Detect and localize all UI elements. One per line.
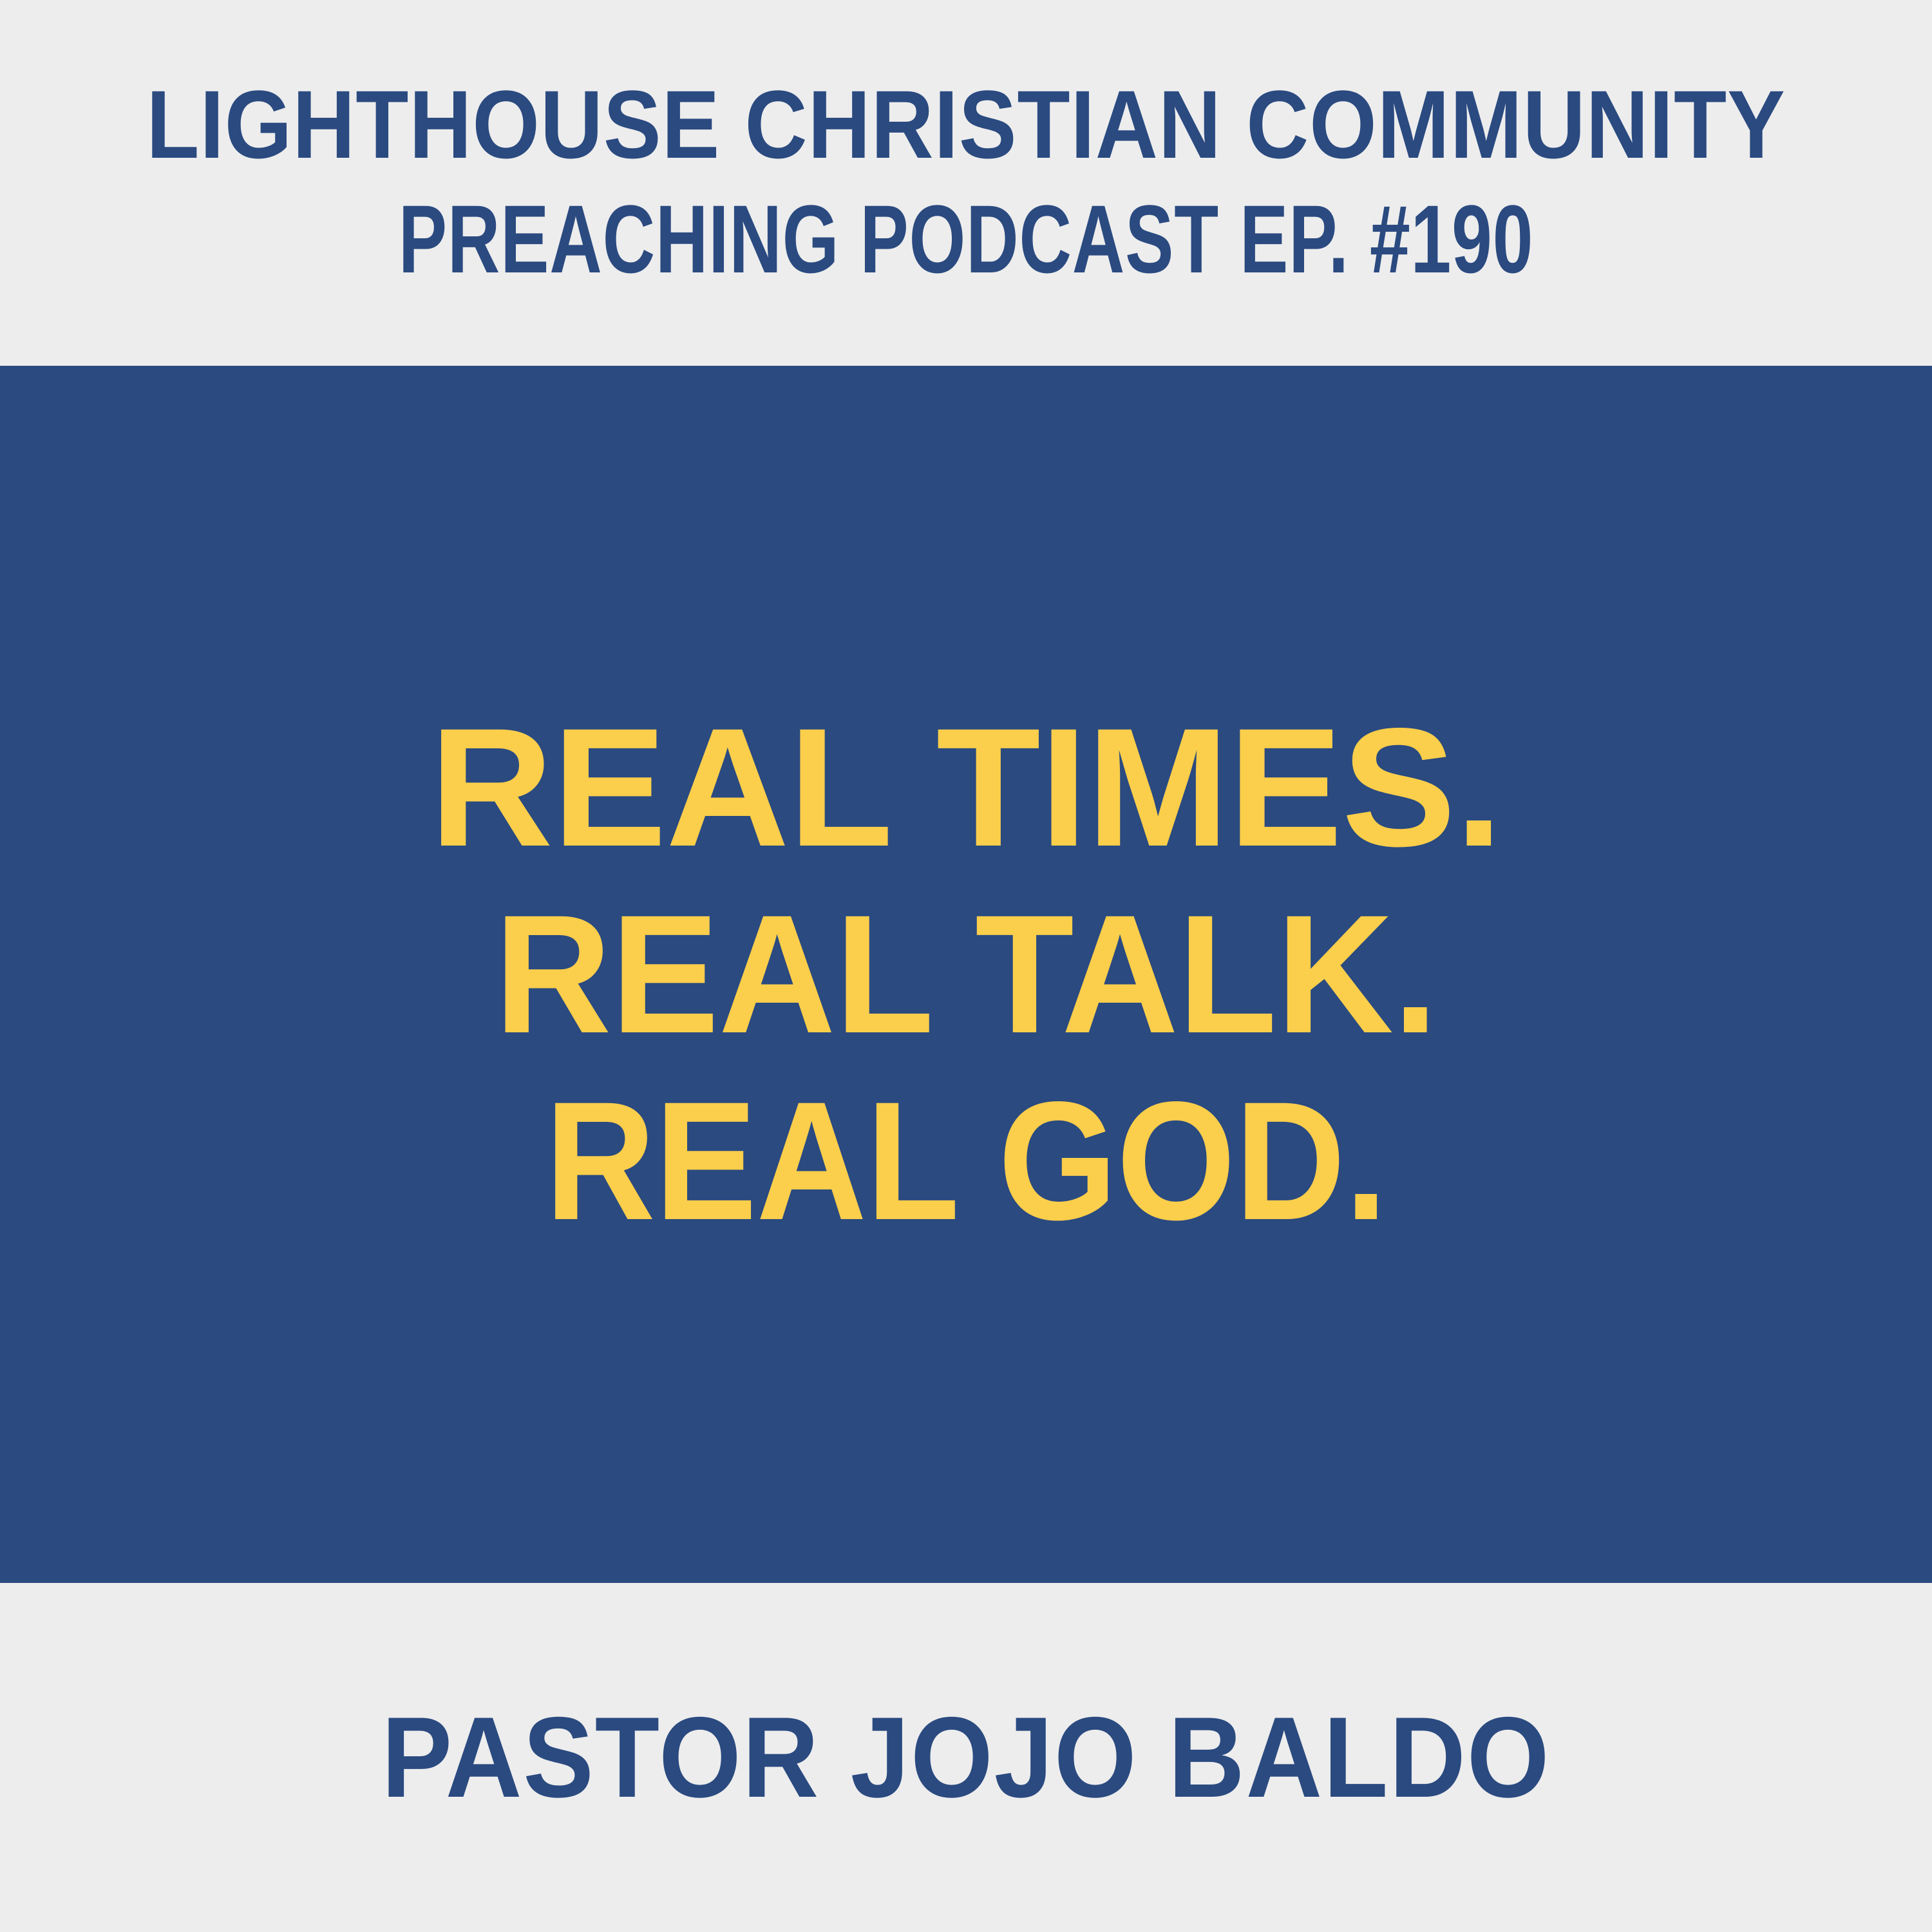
podcast-episode-title: PREACHING PODCAST EP. #190 [239,191,1694,287]
footer-block: PASTOR JOJO BALDO [0,1700,1932,1815]
headline-line-2: REAL TALK. [457,890,1475,1059]
headline-panel-inner: REAL TIMES. REAL TALK. REAL GOD. [0,366,1932,1583]
headline-line-1: REAL TIMES. [430,703,1502,872]
speaker-name: PASTOR JOJO BALDO [382,1700,1551,1815]
podcast-cover-art: LIGHTHOUSE CHRISTIAN COMMUNITY PREACHING… [0,0,1932,1932]
header-title-block: LIGHTHOUSE CHRISTIAN COMMUNITY PREACHING… [0,76,1932,287]
headline-line-3: REAL GOD. [486,1077,1446,1245]
podcast-series-title: LIGHTHOUSE CHRISTIAN COMMUNITY [100,76,1832,173]
episode-headline: REAL TIMES. REAL TALK. REAL GOD. [437,703,1495,1245]
headline-panel: REAL TIMES. REAL TALK. REAL GOD. [0,366,1932,1583]
